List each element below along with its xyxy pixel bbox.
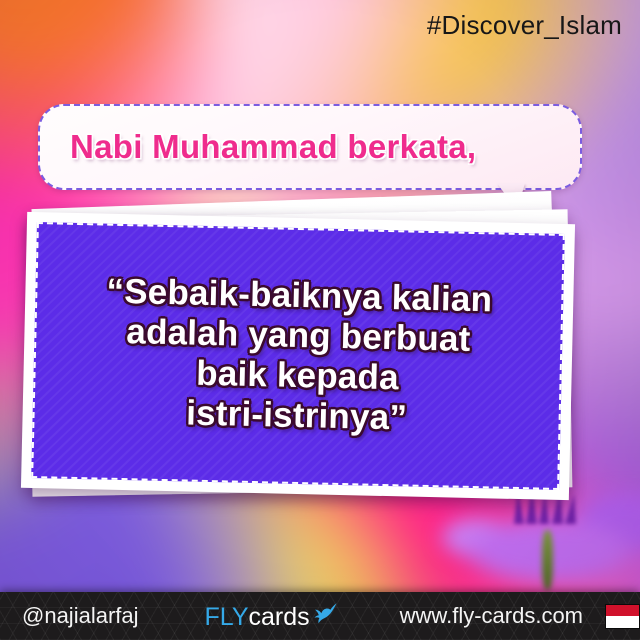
speech-bubble-text: Nabi Muhammad berkata, — [70, 128, 476, 166]
indonesia-flag-icon — [605, 604, 640, 629]
flag-red-band — [606, 605, 639, 617]
website-url[interactable]: www.fly-cards.com — [400, 603, 583, 629]
flycards-quote-card: #Discover_Islam Nabi Muhammad berkata, “… — [0, 0, 640, 640]
quote-line: istri-istrinya” — [103, 392, 490, 441]
flycards-logo[interactable]: FLYcards — [205, 602, 338, 630]
quote-text: “Sebaik-baiknya kalian adalah yang berbu… — [89, 272, 506, 441]
brand-name-fly: FLY — [205, 605, 249, 630]
brand-name-cards: cards — [249, 605, 310, 630]
footer-bar: @najialarfaj FLYcards www.fly-cards.com — [0, 592, 640, 640]
author-handle[interactable]: @najialarfaj — [22, 603, 139, 629]
bird-icon — [312, 602, 338, 626]
quote-panel: “Sebaik-baiknya kalian adalah yang berbu… — [31, 222, 565, 490]
speech-bubble: Nabi Muhammad berkata, — [38, 104, 582, 190]
flag-white-band — [606, 616, 639, 628]
quote-card-front-sheet: “Sebaik-baiknya kalian adalah yang berbu… — [21, 212, 575, 500]
hashtag-label: #Discover_Islam — [427, 10, 622, 41]
